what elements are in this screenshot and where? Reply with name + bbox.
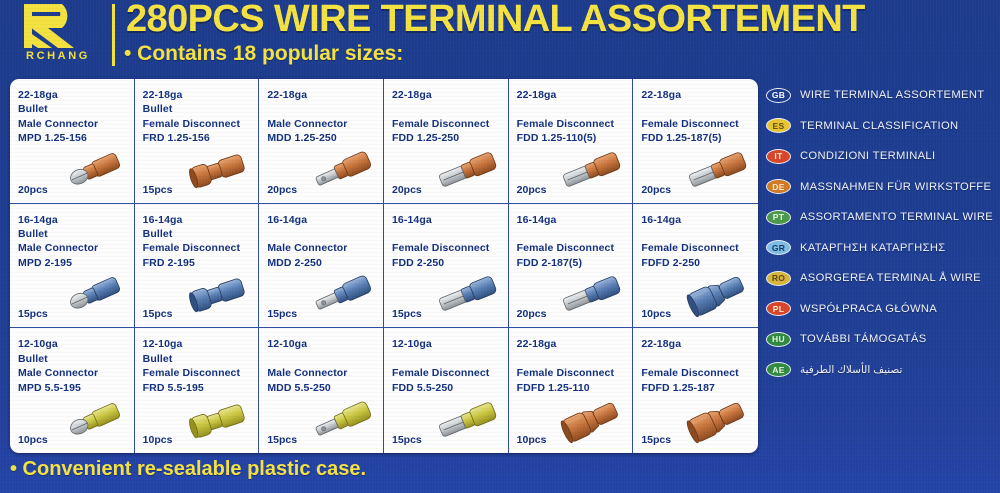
- product-quantity: 15pcs: [392, 434, 422, 446]
- product-cell: 22-18ga Female DisconnectFDD 1.25-250 20…: [384, 79, 509, 204]
- language-row: GRΚΑΤΑΡΓΗΣΗ ΚΑΤΑΡΓΗΣΗΣ: [766, 233, 998, 264]
- product-quantity: 10pcs: [517, 434, 547, 446]
- language-badge: IT: [766, 149, 791, 164]
- product-quantity: 15pcs: [143, 184, 173, 196]
- product-type: Male Connector: [18, 117, 134, 131]
- connector-illustration: [678, 395, 754, 447]
- connector-illustration: [303, 395, 379, 447]
- language-label: ΚΑΤΑΡΓΗΣΗ ΚΑΤΑΡΓΗΣΗΣ: [800, 242, 946, 254]
- package-label: RCHANG 280PCS WIRE TERMINAL ASSORTEMENT …: [0, 0, 1000, 493]
- product-type: Female Disconnect: [517, 366, 633, 380]
- product-style: Bullet: [143, 352, 259, 366]
- rchang-r-logo-icon: [18, 2, 94, 50]
- product-type: Female Disconnect: [143, 117, 259, 131]
- product-quantity: 15pcs: [267, 308, 297, 320]
- connector-illustration: [178, 269, 254, 321]
- product-quantity: 10pcs: [18, 434, 48, 446]
- product-code: FDD 1.25-250: [392, 131, 508, 145]
- product-spec: 12-10ga Male ConnectorMDD 5.5-250: [267, 337, 383, 395]
- language-label: TERMINAL CLASSIFICATION: [800, 120, 958, 132]
- product-spec: 22-18gaBulletFemale DisconnectFRD 1.25-1…: [143, 88, 259, 146]
- language-list: GBWIRE TERMINAL ASSORTEMENTESTERMINAL CL…: [766, 80, 998, 380]
- product-spec: 22-18ga Female DisconnectFDFD 1.25-110: [517, 337, 633, 395]
- product-gauge: 16-14ga: [517, 213, 633, 227]
- product-quantity: 20pcs: [641, 184, 671, 196]
- language-row: PLWSPÓŁPRACA GŁÓWNA: [766, 294, 998, 325]
- product-type: Male Connector: [267, 117, 383, 131]
- product-quantity: 20pcs: [392, 184, 422, 196]
- connector-illustration: [428, 145, 504, 197]
- language-label: ASSORTAMENTO TERMINAL WIRE: [800, 211, 993, 223]
- product-spec: 16-14gaBulletMale ConnectorMPD 2-195: [18, 213, 134, 271]
- product-type: Female Disconnect: [392, 241, 508, 255]
- connector-illustration: [303, 145, 379, 197]
- product-type: Female Disconnect: [392, 366, 508, 380]
- product-code: FRD 2-195: [143, 256, 259, 270]
- language-row: ITCONDIZIONI TERMINALI: [766, 141, 998, 172]
- product-quantity: 10pcs: [143, 434, 173, 446]
- product-cell: 12-10ga Male ConnectorMDD 5.5-250 15pcs: [259, 328, 384, 453]
- product-type: Male Connector: [267, 366, 383, 380]
- product-type: Male Connector: [18, 241, 134, 255]
- product-code: FDD 1.25-187(5): [641, 131, 758, 145]
- connector-illustration: [54, 269, 130, 321]
- product-spec: 22-18ga Female DisconnectFDD 1.25-250: [392, 88, 508, 146]
- product-type: Female Disconnect: [641, 241, 758, 255]
- product-spec: 16-14ga Female DisconnectFDFD 2-250: [641, 213, 758, 271]
- connector-illustration: [303, 269, 379, 321]
- product-code: MDD 2-250: [267, 256, 383, 270]
- product-gauge: 22-18ga: [267, 88, 383, 102]
- product-type: Male Connector: [18, 366, 134, 380]
- language-badge: AE: [766, 362, 791, 377]
- product-code: FDFD 2-250: [641, 256, 758, 270]
- product-spec: 22-18ga Female DisconnectFDD 1.25-110(5): [517, 88, 633, 146]
- product-gauge: 22-18ga: [641, 337, 758, 351]
- product-code: FDD 2-187(5): [517, 256, 633, 270]
- product-code: MDD 1.25-250: [267, 131, 383, 145]
- product-cell: 22-18ga Female DisconnectFDD 1.25-187(5)…: [633, 79, 758, 204]
- product-cell: 22-18ga Male ConnectorMDD 1.25-250 20pcs: [259, 79, 384, 204]
- language-badge: DE: [766, 179, 791, 194]
- product-type: Female Disconnect: [517, 117, 633, 131]
- product-spec: 22-18ga Female DisconnectFDD 1.25-187(5): [641, 88, 758, 146]
- product-gauge: 16-14ga: [143, 213, 259, 227]
- product-quantity: 20pcs: [267, 184, 297, 196]
- language-label: WIRE TERMINAL ASSORTEMENT: [800, 89, 984, 101]
- product-spec: 16-14ga Male ConnectorMDD 2-250: [267, 213, 383, 271]
- product-style: Bullet: [18, 227, 134, 241]
- product-code: FRD 1.25-156: [143, 131, 259, 145]
- language-row: PTASSORTAMENTO TERMINAL WIRE: [766, 202, 998, 233]
- logo-divider: [112, 4, 115, 66]
- product-type: Female Disconnect: [143, 366, 259, 380]
- product-gauge: 22-18ga: [517, 88, 633, 102]
- product-cell: 16-14ga Male ConnectorMDD 2-250 15pcs: [259, 204, 384, 329]
- connector-illustration: [552, 269, 628, 321]
- product-spec: 22-18gaBulletMale ConnectorMPD 1.25-156: [18, 88, 134, 146]
- product-cell: 16-14ga Female DisconnectFDD 2-250 15pcs: [384, 204, 509, 329]
- product-code: FDD 2-250: [392, 256, 508, 270]
- connector-illustration: [678, 145, 754, 197]
- language-badge: GR: [766, 240, 791, 255]
- language-label: CONDIZIONI TERMINALI: [800, 150, 935, 162]
- product-code: MPD 1.25-156: [18, 131, 134, 145]
- connector-illustration: [54, 145, 130, 197]
- product-gauge: 22-18ga: [517, 337, 633, 351]
- product-spec: 22-18ga Male ConnectorMDD 1.25-250: [267, 88, 383, 146]
- product-cell: 22-18gaBulletMale ConnectorMPD 1.25-156 …: [10, 79, 135, 204]
- footer-note: • Convenient re-sealable plastic case.: [10, 458, 366, 481]
- connector-illustration: [428, 395, 504, 447]
- product-cell: 12-10gaBulletMale ConnectorMPD 5.5-195 1…: [10, 328, 135, 453]
- language-badge: HU: [766, 332, 791, 347]
- brand-logo: RCHANG: [8, 2, 106, 70]
- product-gauge: 22-18ga: [143, 88, 259, 102]
- product-cell: 16-14gaBulletFemale DisconnectFRD 2-195 …: [135, 204, 260, 329]
- language-row: DEMASSNAHMEN FÜR WIRKSTOFFE: [766, 172, 998, 203]
- product-gauge: 22-18ga: [392, 88, 508, 102]
- product-type: Male Connector: [267, 241, 383, 255]
- product-quantity: 15pcs: [18, 308, 48, 320]
- product-spec: 16-14gaBulletFemale DisconnectFRD 2-195: [143, 213, 259, 271]
- product-quantity: 15pcs: [143, 308, 173, 320]
- language-row: HUTOVÁBBI TÁMOGATÁS: [766, 324, 998, 355]
- language-label: MASSNAHMEN FÜR WIRKSTOFFE: [800, 181, 991, 193]
- connector-illustration: [178, 395, 254, 447]
- product-spec: 12-10gaBulletFemale DisconnectFRD 5.5-19…: [143, 337, 259, 395]
- product-gauge: 12-10ga: [18, 337, 134, 351]
- product-cell: 22-18ga Female DisconnectFDFD 1.25-110 1…: [509, 328, 634, 453]
- product-code: MDD 5.5-250: [267, 381, 383, 395]
- product-type: Female Disconnect: [517, 241, 633, 255]
- product-gauge: 16-14ga: [18, 213, 134, 227]
- language-badge: PL: [766, 301, 791, 316]
- product-style: Bullet: [18, 102, 134, 116]
- product-gauge: 22-18ga: [641, 88, 758, 102]
- product-spec: 12-10ga Female DisconnectFDD 5.5-250: [392, 337, 508, 395]
- language-badge: GB: [766, 88, 791, 103]
- product-cell: 22-18gaBulletFemale DisconnectFRD 1.25-1…: [135, 79, 260, 204]
- language-badge: RO: [766, 271, 791, 286]
- connector-illustration: [552, 145, 628, 197]
- header-banner: RCHANG 280PCS WIRE TERMINAL ASSORTEMENT …: [0, 0, 1000, 74]
- product-type: Female Disconnect: [392, 117, 508, 131]
- product-cell: 12-10ga Female DisconnectFDD 5.5-250 15p…: [384, 328, 509, 453]
- language-badge: PT: [766, 210, 791, 225]
- brand-name: RCHANG: [14, 50, 102, 62]
- product-cell: 16-14ga Female DisconnectFDD 2-187(5) 20…: [509, 204, 634, 329]
- product-code: FDFD 1.25-110: [517, 381, 633, 395]
- product-gauge: 12-10ga: [143, 337, 259, 351]
- product-type: Female Disconnect: [641, 366, 758, 380]
- product-code: FRD 5.5-195: [143, 381, 259, 395]
- product-gauge: 16-14ga: [267, 213, 383, 227]
- product-type: Female Disconnect: [143, 241, 259, 255]
- product-quantity: 20pcs: [517, 308, 547, 320]
- connector-illustration: [178, 145, 254, 197]
- connector-illustration: [428, 269, 504, 321]
- product-spec: 12-10gaBulletMale ConnectorMPD 5.5-195: [18, 337, 134, 395]
- language-label: TOVÁBBI TÁMOGATÁS: [800, 333, 927, 345]
- connector-illustration: [552, 395, 628, 447]
- product-code: FDD 5.5-250: [392, 381, 508, 395]
- product-style: Bullet: [18, 352, 134, 366]
- product-type: Female Disconnect: [641, 117, 758, 131]
- product-gauge: 16-14ga: [641, 213, 758, 227]
- page-subtitle: • Contains 18 popular sizes:: [124, 42, 403, 66]
- product-style: Bullet: [143, 102, 259, 116]
- product-spec: 16-14ga Female DisconnectFDD 2-187(5): [517, 213, 633, 271]
- product-gauge: 12-10ga: [267, 337, 383, 351]
- product-code: FDFD 1.25-187: [641, 381, 758, 395]
- product-cell: 12-10gaBulletFemale DisconnectFRD 5.5-19…: [135, 328, 260, 453]
- product-gauge: 12-10ga: [392, 337, 508, 351]
- page-title: 280PCS WIRE TERMINAL ASSORTEMENT: [126, 0, 865, 41]
- language-row: AEتصنيف الأسلاك الطرفية: [766, 355, 998, 386]
- product-gauge: 16-14ga: [392, 213, 508, 227]
- product-spec: 22-18ga Female DisconnectFDFD 1.25-187: [641, 337, 758, 395]
- product-code: FDD 1.25-110(5): [517, 131, 633, 145]
- connector-illustration: [678, 269, 754, 321]
- product-code: MPD 5.5-195: [18, 381, 134, 395]
- language-row: ROASORGEREA TERMINAL Å WIRE: [766, 263, 998, 294]
- product-quantity: 15pcs: [392, 308, 422, 320]
- language-row: ESTERMINAL CLASSIFICATION: [766, 111, 998, 142]
- product-quantity: 10pcs: [641, 308, 671, 320]
- product-code: MPD 2-195: [18, 256, 134, 270]
- product-cell: 16-14gaBulletMale ConnectorMPD 2-195 15p…: [10, 204, 135, 329]
- language-label: WSPÓŁPRACA GŁÓWNA: [800, 303, 937, 315]
- product-style: Bullet: [143, 227, 259, 241]
- product-cell: 22-18ga Female DisconnectFDFD 1.25-187 1…: [633, 328, 758, 453]
- product-spec: 16-14ga Female DisconnectFDD 2-250: [392, 213, 508, 271]
- product-gauge: 22-18ga: [18, 88, 134, 102]
- connector-illustration: [54, 395, 130, 447]
- product-quantity: 15pcs: [267, 434, 297, 446]
- product-cell: 22-18ga Female DisconnectFDD 1.25-110(5)…: [509, 79, 634, 204]
- language-label: ASORGEREA TERMINAL Å WIRE: [800, 272, 981, 284]
- language-row: GBWIRE TERMINAL ASSORTEMENT: [766, 80, 998, 111]
- product-cell: 16-14ga Female DisconnectFDFD 2-250 10pc…: [633, 204, 758, 329]
- language-badge: ES: [766, 118, 791, 133]
- product-grid: 22-18gaBulletMale ConnectorMPD 1.25-156 …: [10, 79, 758, 453]
- product-quantity: 20pcs: [517, 184, 547, 196]
- language-label: تصنيف الأسلاك الطرفية: [800, 364, 902, 376]
- product-quantity: 20pcs: [18, 184, 48, 196]
- product-quantity: 15pcs: [641, 434, 671, 446]
